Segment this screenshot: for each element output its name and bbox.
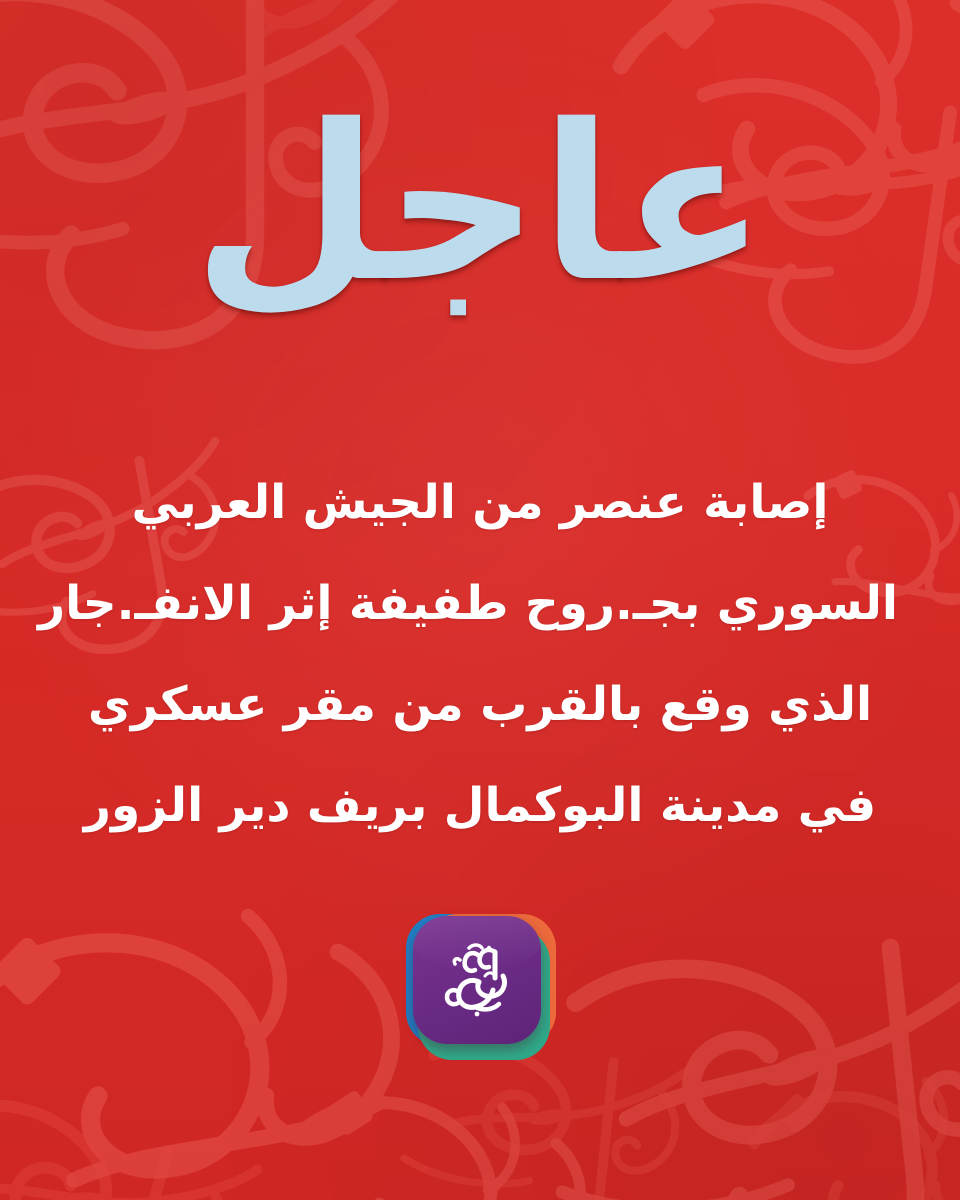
logo-container: حلب اليوم — [0, 908, 960, 1060]
aleppo-today-logo: حلب اليوم — [404, 908, 556, 1060]
news-body: إصابة عنصر من الجيش العربي السوري بجـ.رو… — [62, 452, 898, 856]
news-body-line: السوري بجـ.روح طفيفة إثر الانفـ.جار — [62, 553, 898, 654]
logo-calligraphy-mark — [413, 916, 541, 1044]
page-title: عاجل — [193, 96, 767, 311]
news-body-line: الذي وقع بالقرب من مقر عسكري — [62, 654, 898, 755]
news-body-line: في مدينة البوكمال بريف دير الزور — [62, 755, 898, 856]
logo-tile — [413, 916, 541, 1044]
breaking-news-card: عاجل إصابة عنصر من الجيش العربي السوري ب… — [0, 0, 960, 1200]
logo-name: حلب اليوم — [555, 908, 556, 909]
headline-container: عاجل — [0, 96, 960, 311]
news-body-line: إصابة عنصر من الجيش العربي — [62, 452, 898, 553]
